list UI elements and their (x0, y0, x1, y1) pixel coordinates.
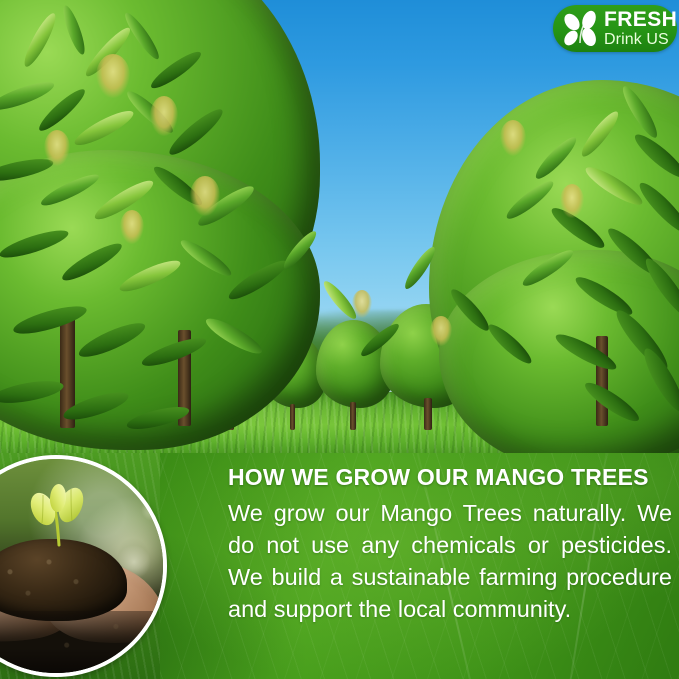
mango-blossom-panicle (44, 130, 70, 166)
logo-primary-text: FRESH (604, 9, 677, 30)
hands-holding-seedling-photo (0, 455, 167, 677)
fresh-drink-us-logo[interactable]: FRESH Drink US (553, 5, 677, 52)
panel-body-line: local community. (398, 596, 571, 622)
mango-blossom-panicle (120, 210, 144, 244)
panel-headline: HOW WE GROW OUR MANGO TREES (228, 465, 672, 490)
mango-blossom-panicle (190, 176, 220, 216)
tree-trunk (424, 398, 432, 430)
mango-blossom-panicle (430, 316, 452, 346)
leaf-cluster-icon (559, 9, 603, 49)
foreground-tree-trunk (596, 336, 608, 426)
mango-blossom-panicle (352, 290, 372, 318)
foreground-tree-trunk (178, 330, 191, 426)
mango-blossom-panicle (96, 54, 130, 98)
info-panel-content: HOW WE GROW OUR MANGO TREES We grow our … (228, 465, 672, 625)
tree-trunk (290, 404, 295, 430)
mango-blossom-panicle (560, 184, 584, 218)
tree-trunk (350, 402, 356, 430)
soil-ground (0, 611, 163, 673)
mango-orchard-photo (0, 0, 679, 460)
panel-body-line: We grow our Mango Trees naturally. (228, 500, 626, 526)
mango-farming-banner: FRESH Drink US HOW WE GROW OUR MANGO TRE… (0, 0, 679, 679)
logo-secondary-text: Drink US (604, 32, 677, 48)
foreground-tree-trunk (60, 318, 75, 428)
seedling-icon (21, 483, 97, 549)
mango-blossom-panicle (150, 96, 178, 136)
mango-blossom-panicle (500, 120, 526, 156)
panel-body-text: We grow our Mango Trees naturally. We do… (228, 497, 672, 625)
bokeh-light (141, 499, 163, 521)
